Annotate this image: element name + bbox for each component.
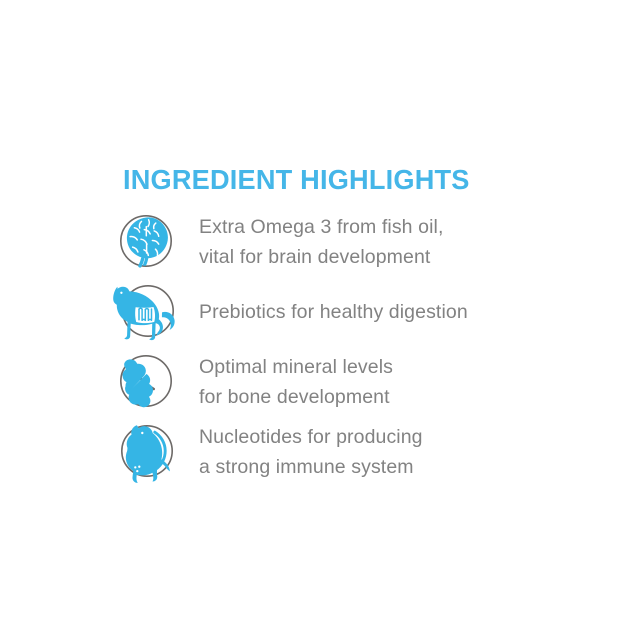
list-item: Prebiotics for healthy digestion [0,276,640,346]
list-item-line: Extra Omega 3 from fish oil, [199,212,619,242]
list-item-line: Prebiotics for healthy digestion [199,297,619,327]
list-item-text: Optimal mineral levels for bone developm… [199,352,619,412]
brain-circle-icon [108,206,190,276]
list-item: Nucleotides for producing a strong immun… [0,416,640,486]
dog-digestion-circle-icon [108,276,190,346]
list-item-text: Extra Omega 3 from fish oil, vital for b… [199,212,619,272]
list-item-line: a strong immune system [199,452,619,482]
page-title: INGREDIENT HIGHLIGHTS [123,164,470,196]
list-item-text: Nucleotides for producing a strong immun… [199,422,619,482]
dog-immune-waves-circle-icon [108,416,190,486]
list-item-line: vital for brain development [199,242,619,272]
list-item: Optimal mineral levels for bone developm… [0,346,640,416]
list-item: Extra Omega 3 from fish oil, vital for b… [0,206,640,276]
list-item-line: Nucleotides for producing [199,422,619,452]
list-item-text: Prebiotics for healthy digestion [199,297,619,327]
highlights-list: Extra Omega 3 from fish oil, vital for b… [0,206,640,486]
list-item-line: Optimal mineral levels [199,352,619,382]
list-item-line: for bone development [199,382,619,412]
ingredient-highlights-panel: INGREDIENT HIGHLIGHTS [0,0,640,640]
bone-circle-icon [108,346,190,416]
